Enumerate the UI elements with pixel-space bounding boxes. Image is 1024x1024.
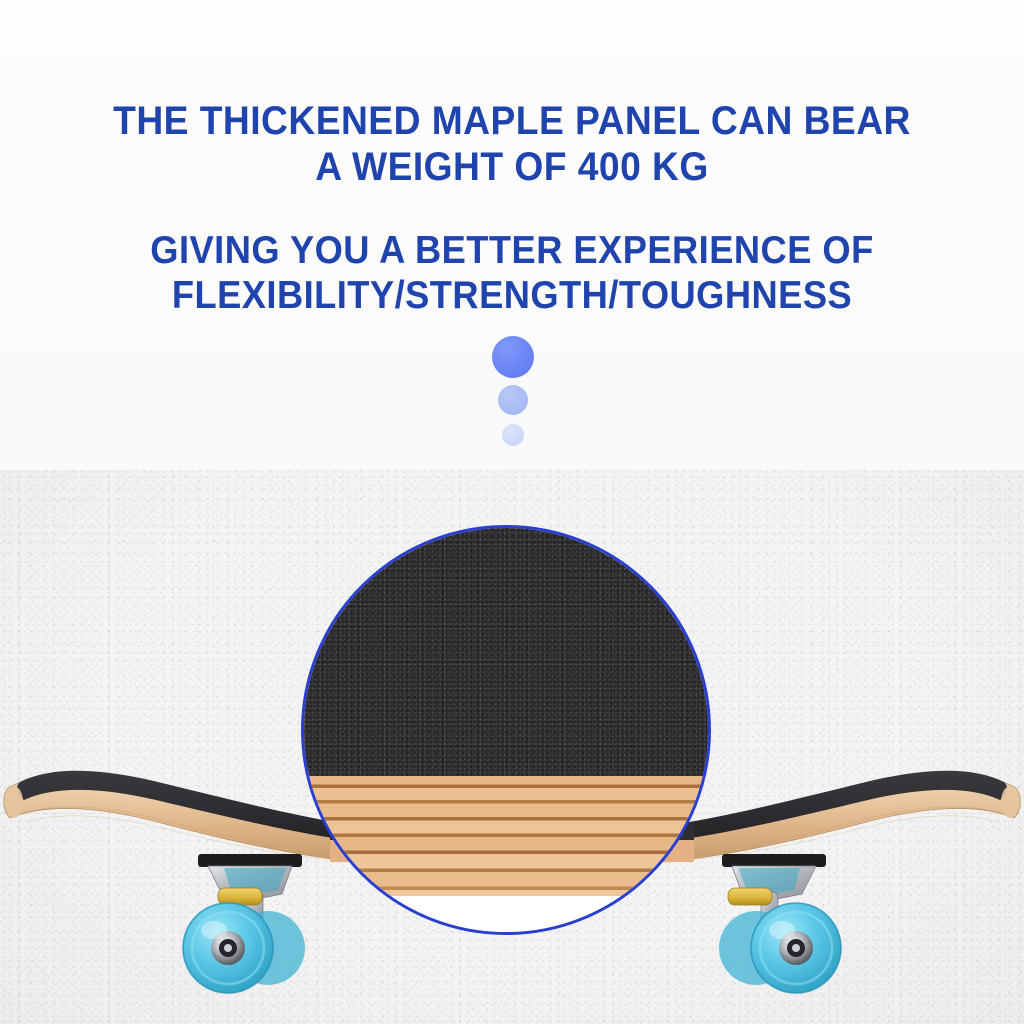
headline-block-1: THE THICKENED MAPLE PANEL CAN BEAR A WEI…: [36, 98, 988, 191]
headline-block-1-line-2: A WEIGHT OF 400 KG: [36, 144, 988, 190]
wheel-right: [751, 903, 841, 993]
callout-backdrop: [304, 896, 708, 935]
dot-small-icon: [502, 424, 524, 446]
truck-right: [719, 854, 841, 993]
maple-plies-detail: [304, 776, 708, 896]
headline-area: THE THICKENED MAPLE PANEL CAN BEAR A WEI…: [0, 0, 1024, 470]
truck-left: [183, 854, 305, 993]
headline-block-1-line-1: THE THICKENED MAPLE PANEL CAN BEAR: [113, 99, 911, 143]
grip-tape-detail: [304, 528, 708, 776]
deck-right-wing: [664, 771, 1020, 862]
product-photo-area: [0, 470, 1024, 1024]
headline-block-2-line-2: FLEXIBILITY/STRENGTH/TOUGHNESS: [36, 273, 988, 318]
detail-callout-circle: [301, 525, 711, 935]
headline-block-2-line-1: GIVING YOU A BETTER EXPERIENCE OF: [150, 229, 873, 272]
headline-block-2: GIVING YOU A BETTER EXPERIENCE OF FLEXIB…: [36, 228, 988, 318]
promo-image: THE THICKENED MAPLE PANEL CAN BEAR A WEI…: [0, 0, 1024, 1024]
wheel-left: [183, 903, 273, 993]
decorative-dot-stack: [0, 336, 1024, 456]
dot-large-icon: [492, 336, 534, 378]
dot-medium-icon: [498, 385, 528, 415]
